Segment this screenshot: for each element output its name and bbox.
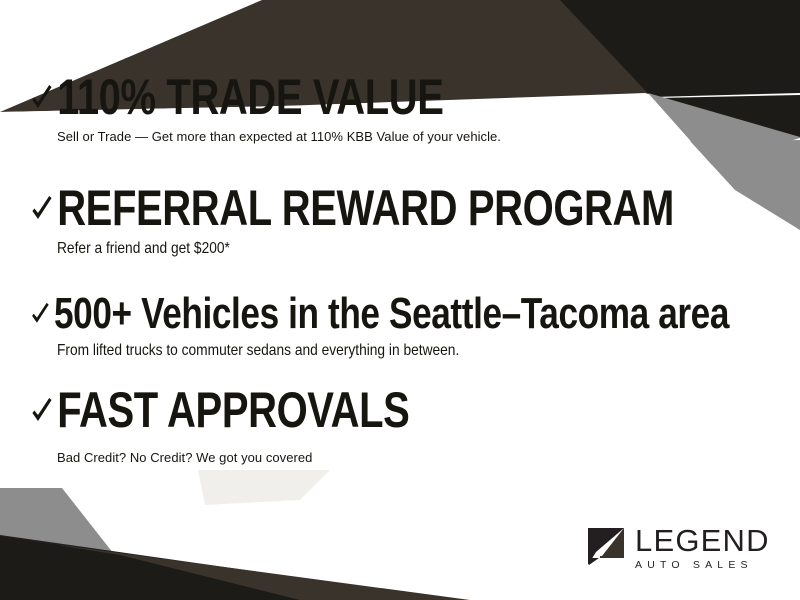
feature-headline-text: FAST APPROVALS	[57, 382, 409, 438]
banner-content: 110% TRADE VALUE Sell or Trade — Get mor…	[0, 0, 800, 600]
legend-chevron-mark-icon	[586, 525, 626, 570]
promo-banner: 110% TRADE VALUE Sell or Trade — Get mor…	[0, 0, 800, 600]
feature-item: REFERRAL REWARD PROGRAM Refer a friend a…	[30, 183, 790, 258]
feature-subtitle: Bad Credit? No Credit? We got you covere…	[57, 451, 790, 465]
feature-headline: REFERRAL REWARD PROGRAM	[30, 183, 638, 233]
feature-subtitle: From lifted trucks to commuter sedans an…	[57, 342, 687, 360]
logo-tagline: AUTO SALES	[635, 560, 770, 571]
feature-headline-text: REFERRAL REWARD PROGRAM	[57, 180, 674, 236]
legend-auto-sales-logo: LEGEND AUTO SALES	[586, 525, 770, 571]
feature-item: 110% TRADE VALUE Sell or Trade — Get mor…	[30, 72, 790, 144]
feature-subtitle: Refer a friend and get $200*	[57, 240, 687, 258]
feature-headline: 110% TRADE VALUE	[30, 72, 638, 122]
feature-subtitle: Sell or Trade — Get more than expected a…	[57, 130, 790, 144]
logo-wordmark: LEGEND	[635, 525, 770, 556]
feature-item: FAST APPROVALS Bad Credit? No Credit? We…	[30, 385, 790, 465]
logo-text-block: LEGEND AUTO SALES	[635, 525, 770, 571]
check-icon	[30, 302, 51, 328]
check-icon	[30, 195, 54, 225]
feature-item: 500+ Vehicles in the Seattle–Tacoma area…	[30, 292, 790, 360]
feature-headline: 500+ Vehicles in the Seattle–Tacoma area	[30, 292, 638, 336]
check-icon	[30, 84, 54, 114]
feature-headline-text: 110% TRADE VALUE	[57, 69, 443, 125]
check-icon	[30, 397, 54, 427]
feature-headline-text: 500+ Vehicles in the Seattle–Tacoma area	[54, 289, 729, 338]
feature-headline: FAST APPROVALS	[30, 385, 638, 435]
